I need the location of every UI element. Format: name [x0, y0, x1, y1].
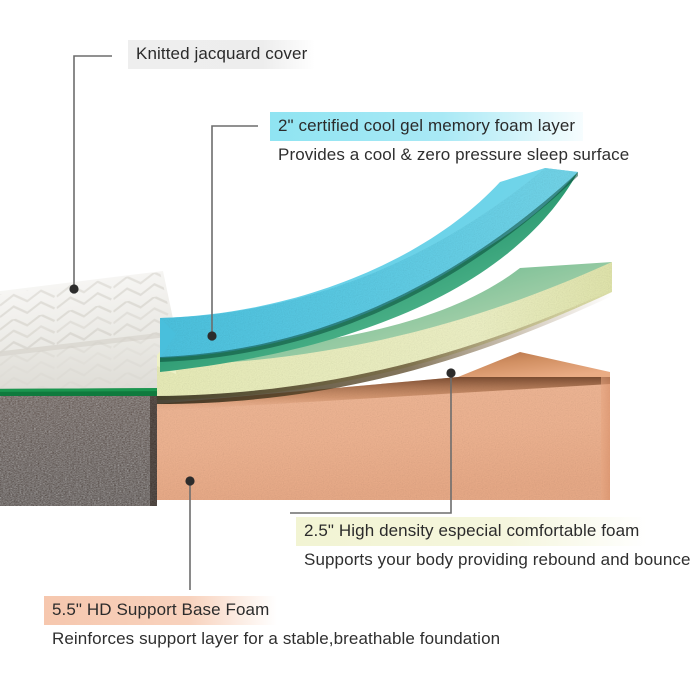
callout-high-density-foam: 2.5" High density especial comfortable f…	[296, 517, 699, 575]
callout-gel-memory-foam: 2" certified cool gel memory foam layer …	[270, 112, 637, 170]
callout-high-density-foam-subtitle: Supports your body providing rebound and…	[296, 546, 699, 575]
leader-dot-support-base	[185, 476, 194, 485]
leader-dot-gel-foam	[207, 331, 216, 340]
callout-gel-memory-foam-subtitle: Provides a cool & zero pressure sleep su…	[270, 141, 637, 170]
leader-dot-high-density	[446, 368, 455, 377]
fabric-panel-right-shade	[150, 396, 157, 506]
callout-knitted-cover: Knitted jacquard cover	[128, 40, 315, 69]
mattress-cutaway-illustration	[0, 0, 700, 700]
dark-fabric-side-panel	[0, 396, 157, 506]
callout-hd-support-base-subtitle: Reinforces support layer for a stable,br…	[44, 625, 508, 654]
callout-knitted-cover-title: Knitted jacquard cover	[128, 40, 315, 69]
callout-gel-memory-foam-title: 2" certified cool gel memory foam layer	[270, 112, 583, 141]
mattress-layer-infographic: Knitted jacquard cover 2" certified cool…	[0, 0, 700, 700]
callout-hd-support-base-title: 5.5" HD Support Base Foam	[44, 596, 277, 625]
callout-hd-support-base: 5.5" HD Support Base Foam Reinforces sup…	[44, 596, 508, 654]
hd-base-top-surface	[458, 352, 610, 377]
callout-high-density-foam-title: 2.5" High density especial comfortable f…	[296, 517, 647, 546]
hd-base-right-edge	[601, 377, 610, 500]
leader-gel-foam	[212, 126, 258, 335]
leader-knitted-cover	[74, 56, 112, 288]
leader-dot-knitted-cover	[69, 284, 78, 293]
